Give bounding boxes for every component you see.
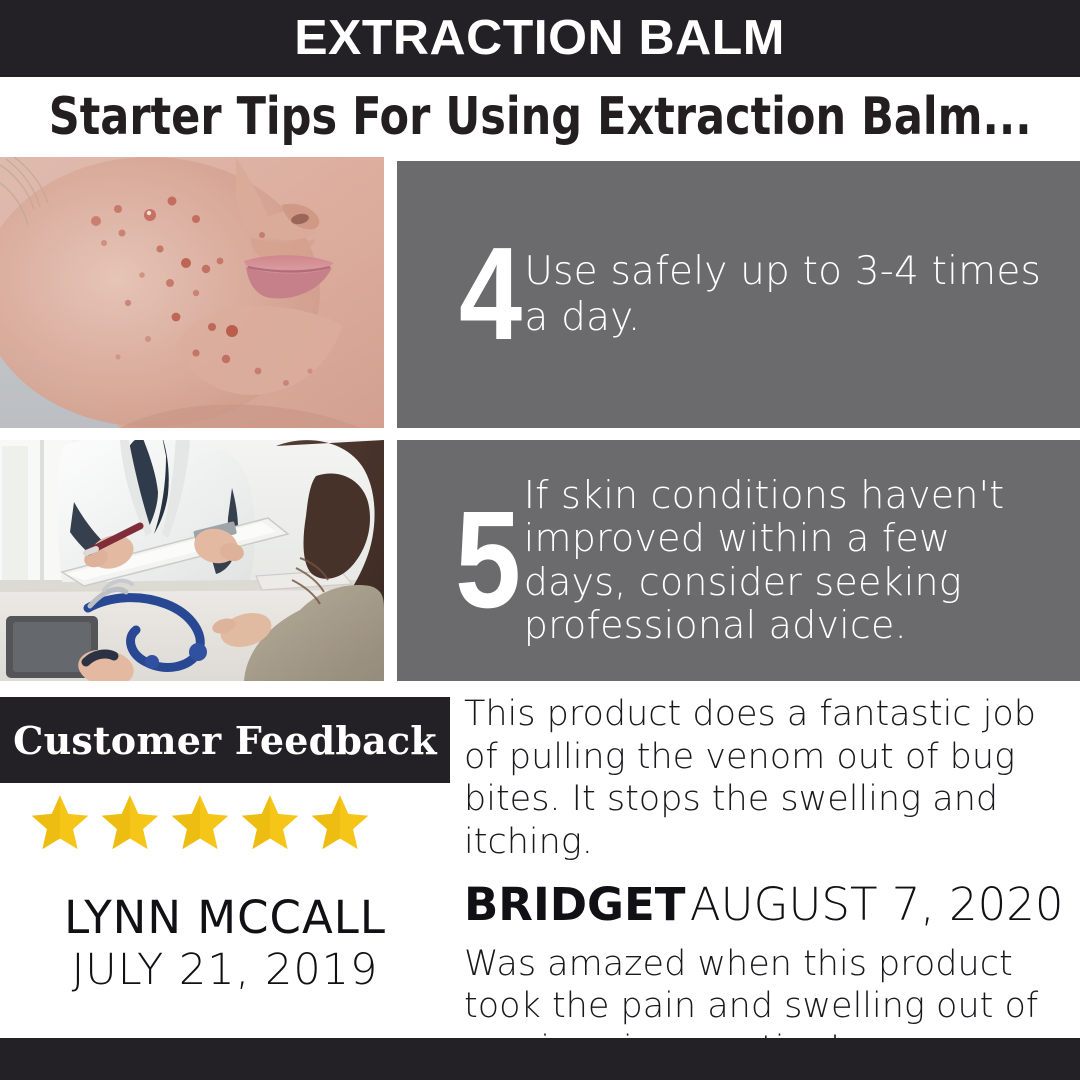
customer-feedback-badge: Customer Feedback xyxy=(0,697,450,783)
reviewer-date: AUGUST 7, 2020 xyxy=(690,878,1064,931)
tip-card-4: 4 Use safely up to 3-4 times a day. xyxy=(397,161,1080,428)
page-title: EXTRACTION BALM xyxy=(295,14,786,63)
star-rating xyxy=(0,791,400,860)
star-icon xyxy=(307,791,373,860)
tip-photo-acne-closeup xyxy=(0,157,384,428)
tip-text: Use safely up to 3-4 times a day. xyxy=(524,249,1046,340)
reviewer-date: JULY 21, 2019 xyxy=(0,943,450,999)
review-list: This product does a fantastic job of pul… xyxy=(464,693,1064,1071)
tip-photo-doctor-consultation xyxy=(0,440,384,681)
review-body: This product does a fantastic job of pul… xyxy=(464,693,1064,864)
customer-feedback-section: Customer Feedback LYNN MCCALL JULY 21, 2… xyxy=(0,681,1080,1038)
star-icon xyxy=(27,791,93,860)
reviewer-name: BRIDGET xyxy=(464,878,685,931)
tips-grid: 4 Use safely up to 3-4 times a day. xyxy=(0,157,1080,681)
review-meta: BRIDGET AUGUST 7, 2020 xyxy=(464,878,1064,931)
reviewer-name: LYNN MCCALL xyxy=(0,893,450,943)
page-subtitle: Starter Tips For Using Extraction Balm..… xyxy=(49,91,1032,143)
footer-bar xyxy=(0,1038,1080,1080)
tip-number: 5 xyxy=(455,507,521,615)
tip-number: 4 xyxy=(459,243,522,346)
header-title-bar: EXTRACTION BALM xyxy=(0,0,1080,77)
customer-feedback-label: Customer Feedback xyxy=(13,718,437,763)
left-reviewer: LYNN MCCALL JULY 21, 2019 xyxy=(0,893,450,998)
tip-text: If skin conditions haven't improved with… xyxy=(524,474,1054,647)
star-icon xyxy=(167,791,233,860)
header-subtitle-band: Starter Tips For Using Extraction Balm..… xyxy=(0,77,1080,157)
star-icon xyxy=(237,791,303,860)
tip-card-5: 5 If skin conditions haven't improved wi… xyxy=(397,440,1080,681)
star-icon xyxy=(97,791,163,860)
